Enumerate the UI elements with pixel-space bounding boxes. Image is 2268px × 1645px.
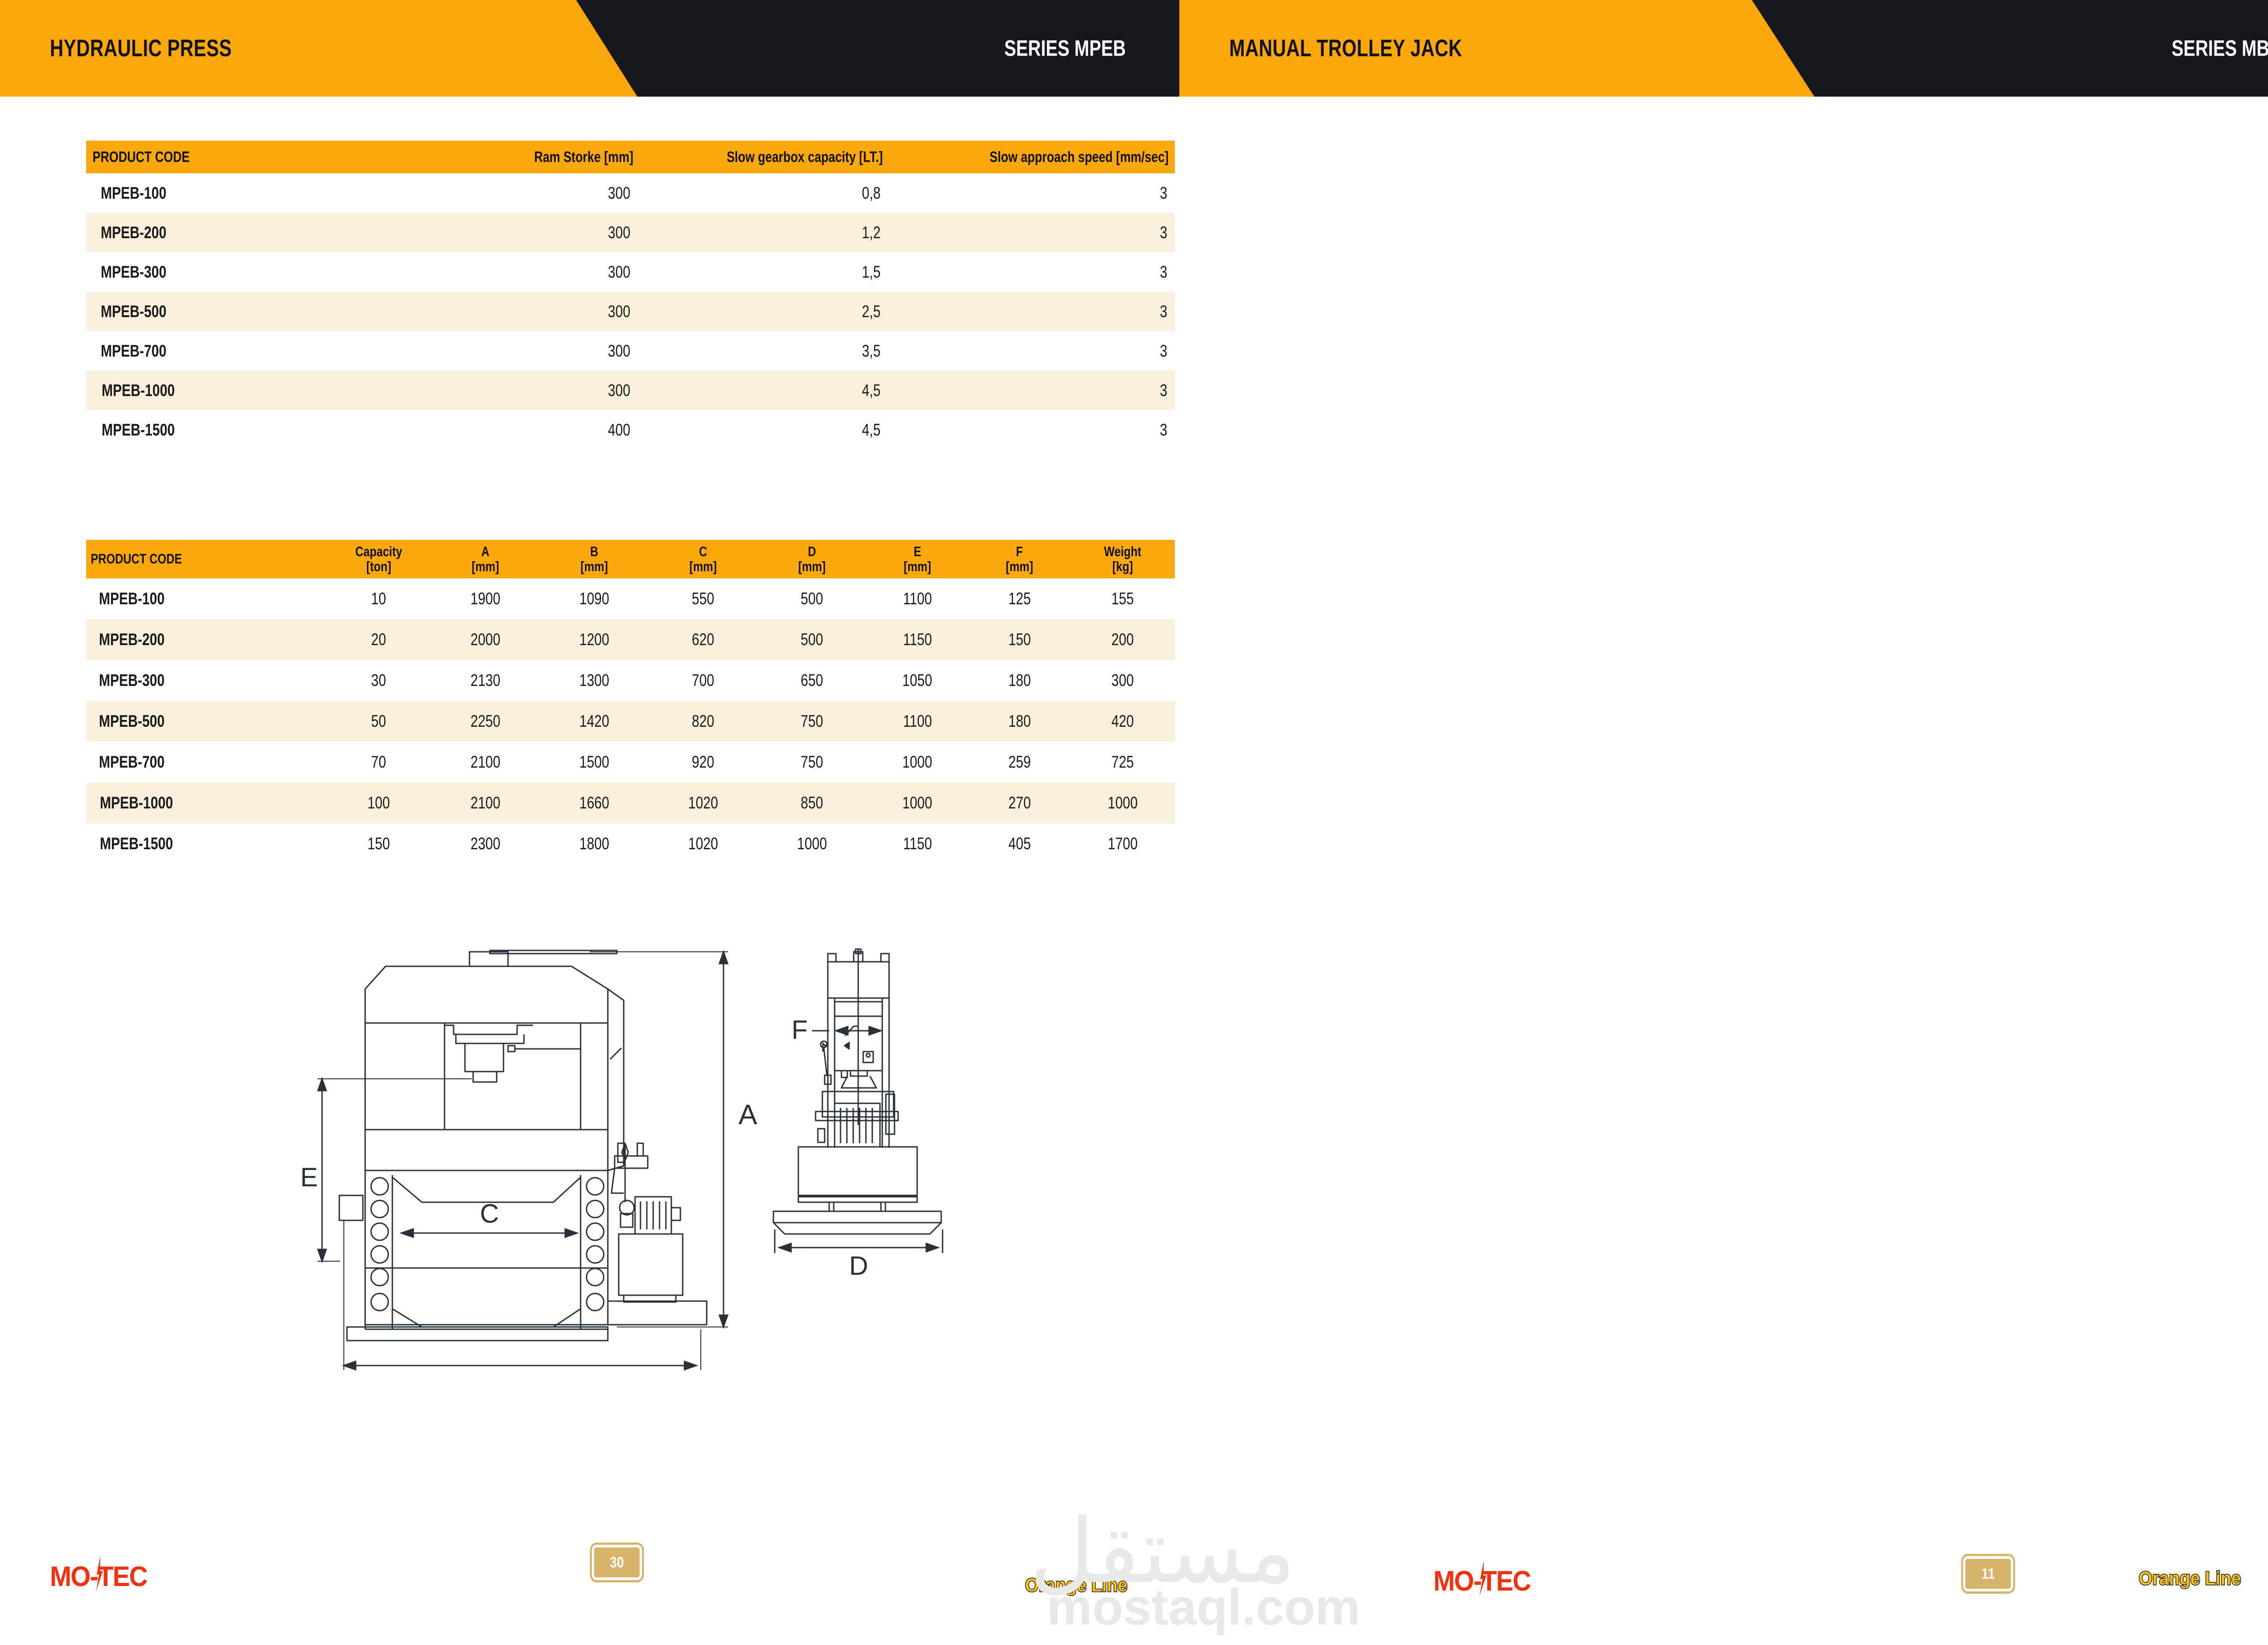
cell-value: 180 (968, 660, 1070, 701)
cell-value: 3 (889, 252, 1175, 292)
cell-value: 3 (889, 410, 1175, 450)
cell-value: 3 (889, 371, 1175, 410)
column-header: E[mm] (866, 540, 968, 578)
motec-logo-right: MO-TEC (1433, 1565, 1530, 1597)
cell-value: 1150 (866, 619, 968, 660)
cell-value: 10 (327, 578, 431, 619)
cell-value: 4,5 (640, 371, 889, 410)
cell-value: 300 (1070, 660, 1175, 701)
table-row: MPEB-7003003,53 (86, 331, 1175, 371)
cell-value: 3 (889, 331, 1175, 371)
cell-value: 2130 (431, 660, 540, 701)
hydraulic-press-front-view-drawing: A E C (272, 930, 771, 1497)
column-header: F[mm] (968, 540, 1070, 578)
dim-label-f: F (792, 1015, 807, 1045)
table-row: MPEB-3003001,53 (86, 252, 1175, 292)
cell-value: 920 (649, 742, 758, 783)
cell-value: 1700 (1070, 823, 1175, 864)
cell-value: 1100 (866, 578, 968, 619)
table-header-row: PRODUCT CODE Ram Storke [mm] Slow gearbo… (86, 141, 1175, 173)
cell-value: 300 (431, 173, 640, 213)
cell-product-code: MPEB-1000 (86, 783, 327, 823)
column-header: Capacity[ton] (327, 540, 431, 578)
col-ram-stroke: Ram Storke [mm] (431, 141, 640, 173)
cell-product-code: MPEB-700 (86, 331, 431, 371)
cell-value: 3 (889, 213, 1175, 252)
cell-product-code: MPEB-300 (86, 660, 327, 701)
cell-value: 3,5 (640, 331, 889, 371)
left-page-header: HYDRAULIC PRESS SERIES MPEB (0, 0, 1179, 97)
cell-value: 1660 (540, 783, 649, 823)
table-row: MPEB-70070210015009207501000259725 (86, 742, 1175, 783)
cell-value: 20 (327, 619, 431, 660)
cell-value: 1090 (540, 578, 649, 619)
cell-value: 650 (758, 660, 866, 701)
dim-label-e: E (300, 1163, 318, 1192)
cell-value: 200 (1070, 619, 1175, 660)
cell-value: 2250 (431, 701, 540, 742)
table-row: MPEB-1003000,83 (86, 173, 1175, 213)
cell-value: 750 (758, 701, 866, 742)
cell-value: 1,5 (640, 252, 889, 292)
cell-value: 405 (968, 823, 1070, 864)
cell-value: 1200 (540, 619, 649, 660)
mpeb-dimensions-table: PRODUCT CODECapacity[ton]A[mm]B[mm]C[mm]… (86, 540, 1175, 864)
cell-value: 500 (758, 578, 866, 619)
col-product-code: PRODUCT CODE (86, 141, 431, 173)
cell-product-code: MPEB-1000 (86, 371, 431, 410)
cell-value: 1150 (866, 823, 968, 864)
cell-value: 50 (327, 701, 431, 742)
right-header-series: SERIES MBV (2171, 0, 2268, 97)
cell-value: 1900 (431, 578, 540, 619)
cell-value: 270 (968, 783, 1070, 823)
cell-value: 550 (649, 578, 758, 619)
cell-value: 1100 (866, 701, 968, 742)
motec-logo-left: MO-TEC (50, 1561, 147, 1593)
cell-value: 150 (968, 619, 1070, 660)
cell-value: 700 (649, 660, 758, 701)
cell-value: 300 (431, 292, 640, 331)
cell-value: 420 (1070, 701, 1175, 742)
cell-value: 2000 (431, 619, 540, 660)
dim-label-d: D (849, 1251, 868, 1281)
left-page: HYDRAULIC PRESS SERIES MPEB PRODUCT CODE… (0, 0, 1179, 1645)
cell-value: 3 (889, 292, 1175, 331)
table-row: MPEB-1500150230018001020100011504051700 (86, 823, 1175, 864)
cell-value: 1000 (866, 783, 968, 823)
page-number-badge-right: 11 (1963, 1556, 2014, 1591)
mpeb-specs-table: PRODUCT CODE Ram Storke [mm] Slow gearbo… (86, 141, 1175, 450)
cell-value: 300 (431, 331, 640, 371)
right-page-header: MANUAL TROLLEY JACK SERIES MBV (1179, 0, 2268, 97)
column-header: D[mm] (758, 540, 866, 578)
cell-product-code: MPEB-200 (86, 213, 431, 252)
cell-value: 1500 (540, 742, 649, 783)
cell-value: 155 (1070, 578, 1175, 619)
motec-logo-text: MO-TEC (1433, 1566, 1530, 1597)
cell-value: 820 (649, 701, 758, 742)
cell-value: 2,5 (640, 292, 889, 331)
cell-value: 300 (431, 213, 640, 252)
cell-value: 500 (758, 619, 866, 660)
cell-value: 180 (968, 701, 1070, 742)
page-number-left: 30 (610, 1554, 624, 1571)
table-row: MPEB-10010190010905505001100125155 (86, 578, 1175, 619)
cell-product-code: MPEB-1500 (86, 410, 431, 450)
cell-value: 150 (327, 823, 431, 864)
cell-product-code: MPEB-700 (86, 742, 327, 783)
cell-value: 725 (1070, 742, 1175, 783)
cell-value: 850 (758, 783, 866, 823)
cell-value: 400 (431, 410, 640, 450)
cell-value: 1300 (540, 660, 649, 701)
column-header: PRODUCT CODE (86, 540, 327, 578)
dim-label-c: C (480, 1199, 499, 1229)
cell-value: 1050 (866, 660, 968, 701)
column-header: Weight[kg] (1070, 540, 1175, 578)
cell-value: 2100 (431, 783, 540, 823)
cell-product-code: MPEB-100 (86, 578, 327, 619)
cell-value: 1,2 (640, 213, 889, 252)
hydraulic-press-side-view-drawing: F D (748, 930, 1111, 1497)
column-header: B[mm] (540, 540, 649, 578)
cell-product-code: MPEB-300 (86, 252, 431, 292)
table-row: MPEB-50050225014208207501100180420 (86, 701, 1175, 742)
cell-product-code: MPEB-500 (86, 701, 327, 742)
cell-product-code: MPEB-100 (86, 173, 431, 213)
table-row: MPEB-20020200012006205001150150200 (86, 619, 1175, 660)
cell-value: 259 (968, 742, 1070, 783)
cell-value: 620 (649, 619, 758, 660)
cell-value: 1000 (1070, 783, 1175, 823)
column-header: C[mm] (649, 540, 758, 578)
table-row: MPEB-5003002,53 (86, 292, 1175, 331)
orange-line-brand-left: Orange Line (1025, 1574, 1127, 1596)
left-header-series: SERIES MPEB (1004, 0, 1126, 97)
right-page: MANUAL TROLLEY JACK SERIES MBV (1179, 0, 2268, 1645)
cell-value: 30 (327, 660, 431, 701)
cell-value: 1420 (540, 701, 649, 742)
table-row: MPEB-15004004,53 (86, 410, 1175, 450)
col-gearbox-capacity: Slow gearbox capacity [LT.] (640, 141, 889, 173)
cell-value: 1000 (866, 742, 968, 783)
cell-value: 1020 (649, 783, 758, 823)
right-header-title: MANUAL TROLLEY JACK (1229, 0, 1462, 97)
cell-value: 2300 (431, 823, 540, 864)
motec-logo-text: MO-TEC (50, 1561, 147, 1592)
cell-value: 1000 (758, 823, 866, 864)
cell-value: 100 (327, 783, 431, 823)
table-row: MPEB-2003001,23 (86, 213, 1175, 252)
page-number-right: 11 (1981, 1565, 1995, 1582)
left-header-title: HYDRAULIC PRESS (50, 0, 232, 97)
cell-value: 1800 (540, 823, 649, 864)
col-approach-speed: Slow approach speed [mm/sec] (889, 141, 1175, 173)
cell-product-code: MPEB-200 (86, 619, 327, 660)
column-header: A[mm] (431, 540, 540, 578)
table-header-row: PRODUCT CODECapacity[ton]A[mm]B[mm]C[mm]… (86, 540, 1175, 578)
cell-value: 300 (431, 371, 640, 410)
cell-value: 2100 (431, 742, 540, 783)
cell-product-code: MPEB-1500 (86, 823, 327, 864)
catalog-spread: HYDRAULIC PRESS SERIES MPEB PRODUCT CODE… (0, 0, 2268, 1645)
cell-value: 3 (889, 173, 1175, 213)
cell-value: 0,8 (640, 173, 889, 213)
page-number-badge-left: 30 (592, 1545, 642, 1580)
table-row: MPEB-10003004,53 (86, 371, 1175, 410)
table-row: MPEB-30030213013007006501050180300 (86, 660, 1175, 701)
table-row: MPEB-100010021001660102085010002701000 (86, 783, 1175, 823)
cell-value: 750 (758, 742, 866, 783)
cell-value: 300 (431, 252, 640, 292)
cell-product-code: MPEB-500 (86, 292, 431, 331)
cell-value: 70 (327, 742, 431, 783)
cell-value: 1020 (649, 823, 758, 864)
orange-line-brand-right: Orange Line (2139, 1567, 2241, 1589)
cell-value: 4,5 (640, 410, 889, 450)
cell-value: 125 (968, 578, 1070, 619)
